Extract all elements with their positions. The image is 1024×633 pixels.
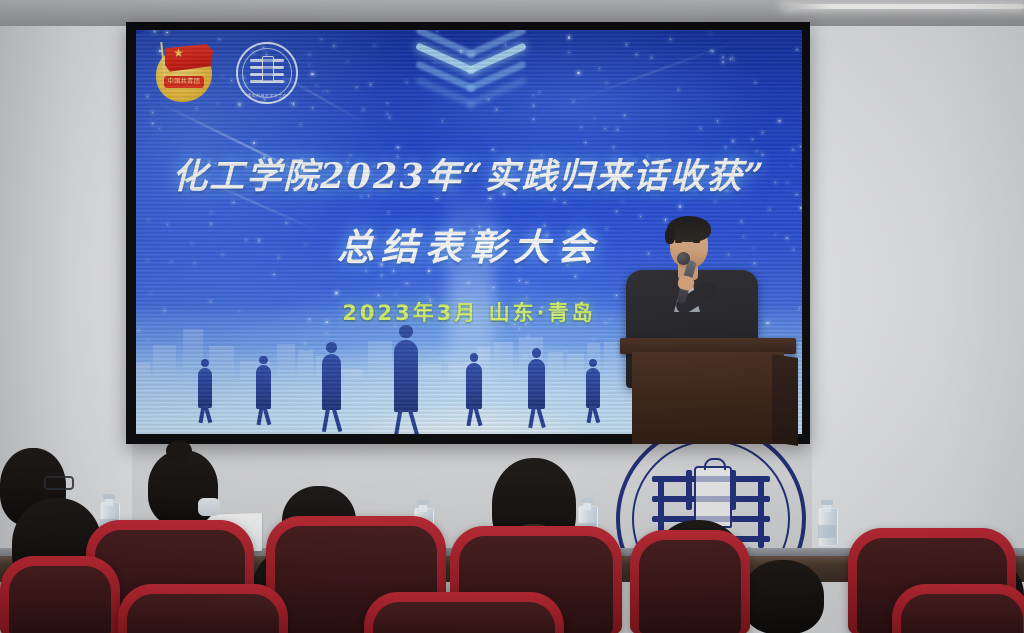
emblem-lamp-icon [694,466,732,528]
screen-title-line1: 化工学院2023年“实践归来话收获” [136,148,802,199]
screen-logos: ★ 中国共青团 青岛科技大学学工办 [154,40,298,106]
water-bottle [818,500,836,546]
runner-silhouette [322,354,341,410]
runner-silhouette [528,359,545,409]
ceiling-light-strip [782,4,1024,9]
eyeglasses-icon [44,476,74,490]
microphone-head [677,252,690,265]
runner-silhouette [466,363,482,409]
auditorium-chair [892,584,1024,633]
podium [620,338,796,444]
right-wall [812,22,1024,582]
chevron-down-icon [411,52,531,128]
speaker-hair [667,216,711,242]
audience-hair-bun [166,440,192,462]
cyl-caption: 中国共青团 [164,76,204,88]
university-seal-caption: 青岛科技大学学工办 [236,93,298,99]
runner-silhouette [256,365,271,409]
face-mask [198,498,220,516]
podium-front [632,352,784,444]
auditorium-chair [118,584,288,633]
audience-head [742,560,824,633]
podium-side [772,354,798,446]
communist-youth-league-emblem-icon: ★ 中国共青团 [154,40,220,106]
auditorium-chair [0,556,120,633]
runner-silhouette [394,340,418,412]
runner-silhouette [198,368,212,408]
auditorium-chair [630,530,750,633]
auditorium-chair [364,592,564,633]
conference-photo: 1950 青岛 科大 ★ 中国共青团 [0,0,1024,633]
speaker-eye [675,240,682,243]
university-seal-icon: 青岛科技大学学工办 [236,42,298,104]
runner-silhouette [586,368,600,408]
speaker-eye [693,240,700,243]
